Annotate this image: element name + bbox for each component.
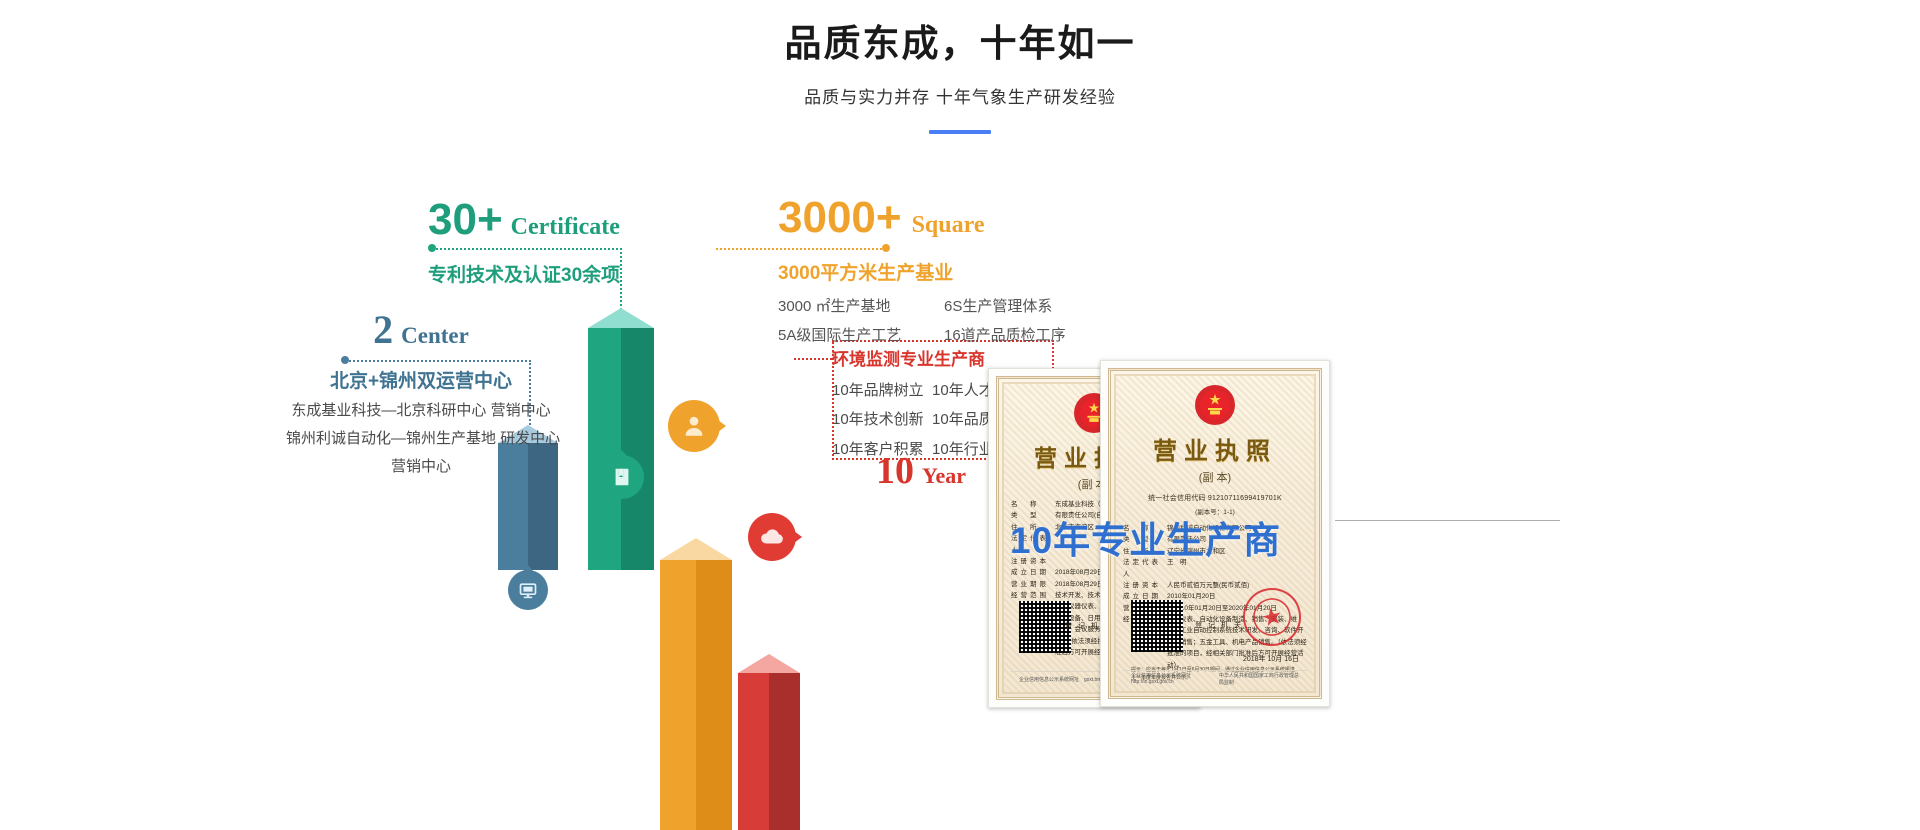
header: 品质东成，十年如一 品质与实力并存 十年气象生产研发经验 <box>0 0 1920 134</box>
callout-center-line: 营销中心 <box>286 453 556 481</box>
callout-year-headline: 10Year <box>876 452 966 490</box>
certificate-fold-line <box>1335 520 1560 521</box>
bar-front-face <box>588 328 621 570</box>
monitor-icon <box>508 570 548 610</box>
callout-year-word: Year <box>922 463 966 488</box>
callout-square: 3000+Square 3000平方米生产基业 3000 ㎡生产基地 6S生产管… <box>778 196 1098 350</box>
cloud-icon <box>748 513 796 561</box>
certificate-field-key: 成立日期 <box>1011 567 1049 578</box>
certificate-front-subtitle: (副 本) <box>1123 469 1307 485</box>
certificate-front-title: 营业执照 <box>1123 431 1307 466</box>
national-emblem-icon <box>1195 385 1235 425</box>
callout-square-headline: 3000+Square <box>778 196 1098 240</box>
callout-center-lines: 东成基业科技—北京科研中心 营销中心 锦州利诚自动化—锦州生产基地 研发中心 营… <box>286 397 556 480</box>
certificate-watermark: 10年专业生产商 <box>1010 510 1281 564</box>
callout-square-word: Square <box>912 212 985 238</box>
callout-center-line: 东成基业科技—北京科研中心 营销中心 <box>286 397 556 425</box>
certificate-field-value: 人民币贰佰万元整(民币贰佰) <box>1167 580 1307 591</box>
certificate-front-registrar-date: 2018年 10月 16日 <box>1243 654 1299 664</box>
callout-center-subtitle: 北京+锦州双运营中心 <box>286 366 556 393</box>
bar-side-face <box>621 328 654 570</box>
callout-certificate-number: 30+ <box>428 195 503 244</box>
user-icon <box>668 400 720 452</box>
bar-year-side-face <box>769 673 800 830</box>
callout-certificate: 30+Certificate 专利技术及认证30余项 <box>428 198 678 287</box>
callout-certificate-subtitle: 专利技术及认证30余项 <box>428 260 678 287</box>
certificate-front-code: 统一社会信用代码 91210711699419701K <box>1123 493 1307 503</box>
callout-center: 2Center 北京+锦州双运营中心 东成基业科技—北京科研中心 营销中心 锦州… <box>286 310 556 480</box>
callout-center-word: Center <box>401 323 469 348</box>
callout-square-number: 3000+ <box>778 193 902 242</box>
certificate-field-key: 营业期限 <box>1011 579 1049 590</box>
callout-center-number: 2 <box>373 307 393 352</box>
callout-year-number: 10 <box>876 450 914 492</box>
callout-certificate-word: Certificate <box>511 214 620 240</box>
callout-year-cell: 10年品牌树立 <box>832 382 924 399</box>
bar-certificate <box>588 308 654 570</box>
callout-square-subtitle: 3000平方米生产基业 <box>778 258 1098 285</box>
certificate-front-registrar-label: 登 记 机 关 <box>1195 620 1243 630</box>
certificate-front-bottombar: 企业信用信息公示系统网址 http://ln.gsxt.gov.cn 中华人民共… <box>1123 670 1307 686</box>
certificate-front-bottom-right: 中华人民共和国国家工商行政管理总局监制 <box>1219 672 1299 686</box>
certificate-field-key: 注册资本 <box>1123 580 1161 591</box>
certificate-front-bottom-left: 企业信用信息公示系统网址 http://ln.gsxt.gov.cn <box>1131 672 1219 685</box>
page-title: 品质东成，十年如一 <box>0 22 1920 66</box>
callout-year-cell: 10年技术创新 <box>832 411 924 428</box>
qr-code <box>1131 600 1183 652</box>
title-divider <box>929 130 991 134</box>
qr-code <box>1019 601 1071 653</box>
certificate-field-key: 名 称 <box>1011 499 1049 510</box>
callout-square-row: 3000 ㎡生产基地 6S生产管理体系 <box>778 293 1098 322</box>
book-icon <box>600 455 644 499</box>
bar-year-front-face <box>738 673 769 830</box>
callout-square-grid: 3000 ㎡生产基地 6S生产管理体系 5A级国际生产工艺 16道产品质检工序 <box>778 293 1098 350</box>
infographic-stage: 2Center 北京+锦州双运营中心 东成基业科技—北京科研中心 营销中心 锦州… <box>0 170 1920 747</box>
certificate-code-value: 91210711699419701K <box>1208 495 1282 502</box>
bar-square-side-face <box>696 560 732 830</box>
promo-banner: 品质东成，十年如一 品质与实力并存 十年气象生产研发经验 <box>0 0 1920 747</box>
page-subtitle: 品质与实力并存 十年气象生产研发经验 <box>0 83 1920 108</box>
callout-certificate-headline: 30+Certificate <box>428 198 678 242</box>
bar-square-front-face <box>660 560 696 830</box>
callout-square-cell: 6S生产管理体系 <box>944 293 1092 322</box>
callout-center-headline: 2Center <box>286 310 556 350</box>
callout-center-line: 锦州利诚自动化—锦州生产基地 研发中心 <box>286 425 556 453</box>
callout-square-cell: 3000 ㎡生产基地 <box>778 293 926 322</box>
certificate-code-label: 统一社会信用代码 <box>1148 495 1206 502</box>
